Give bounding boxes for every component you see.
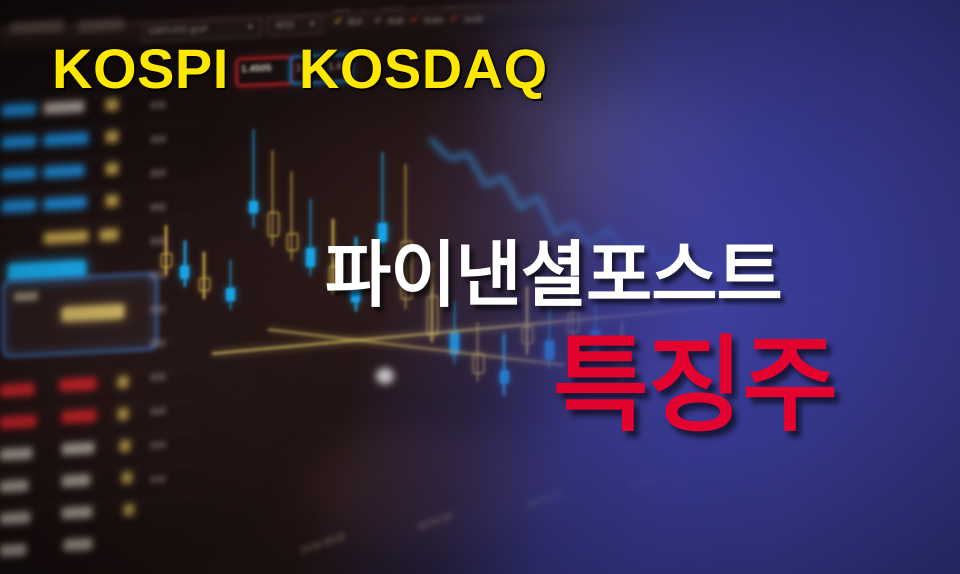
kosdaq-label: KOSDAQ [299,37,548,100]
news-banner: M15 x DE30 x GBPUSD x GBPUSD,graf ▾ M15 … [0,0,960,574]
index-headline: KOSPI KOSDAQ [52,40,548,98]
kospi-label: KOSPI [52,37,229,100]
brand-name: 파이낸셜포스트 [325,237,782,315]
headline-text-layer: KOSPI KOSDAQ 파이낸셜포스트 특징주 [0,0,960,574]
kicker-text: 특징주 [553,330,837,442]
